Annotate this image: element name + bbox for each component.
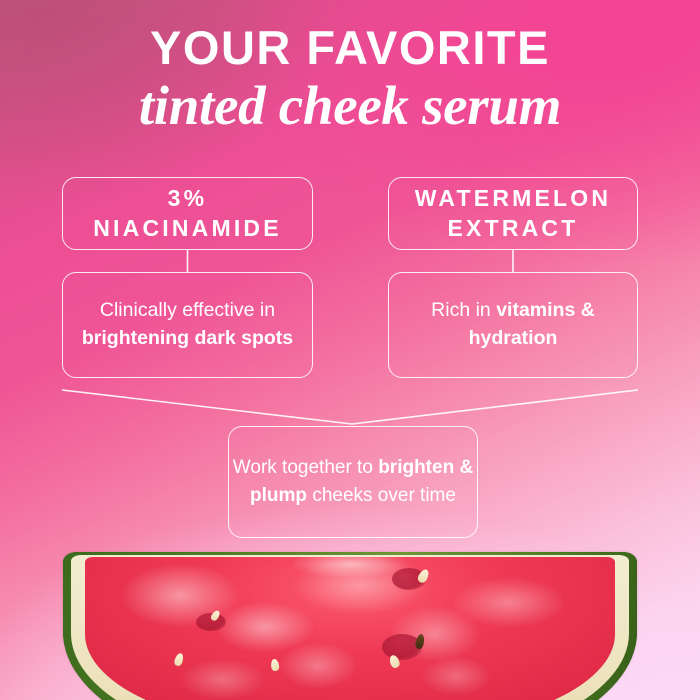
summary-text: Work together to brighten & plump cheeks…: [229, 454, 477, 509]
benefit-box-niacinamide: Clinically effective in brightening dark…: [62, 272, 313, 378]
watermelon-photo: [0, 540, 700, 700]
summary-suffix: cheeks over time: [307, 485, 456, 506]
watermelon-slice: [63, 552, 637, 700]
watermelon-flesh-texture: [85, 557, 615, 700]
headline-line-1: YOUR FAVORITE: [0, 24, 700, 73]
ingredient-box-niacinamide: 3% NIACINAMIDE: [62, 177, 313, 250]
summary-box: Work together to brighten & plump cheeks…: [228, 426, 478, 538]
promo-graphic: YOUR FAVORITE tinted cheek serum 3% NIAC…: [0, 0, 700, 700]
benefit-text-watermelon: Rich in vitamins & hydration: [389, 297, 637, 352]
ingredient-name-niacinamide: 3% NIACINAMIDE: [93, 184, 282, 243]
ingredient-box-watermelon: WATERMELON EXTRACT: [388, 177, 638, 250]
benefit-box-watermelon: Rich in vitamins & hydration: [388, 272, 638, 378]
ingredient-name-watermelon: WATERMELON EXTRACT: [415, 184, 611, 243]
benefit-watermelon-prefix: Rich in: [431, 299, 496, 321]
benefit-text-niacinamide: Clinically effective in brightening dark…: [63, 297, 312, 352]
summary-prefix: Work together to: [233, 457, 378, 478]
benefit-niacinamide-bold: brightening dark spots: [82, 327, 293, 349]
watermelon-flesh: [85, 557, 615, 700]
headline-line-2: tinted cheek serum: [0, 75, 700, 137]
headline: YOUR FAVORITE tinted cheek serum: [0, 24, 700, 136]
benefit-niacinamide-prefix: Clinically effective in: [100, 299, 275, 321]
